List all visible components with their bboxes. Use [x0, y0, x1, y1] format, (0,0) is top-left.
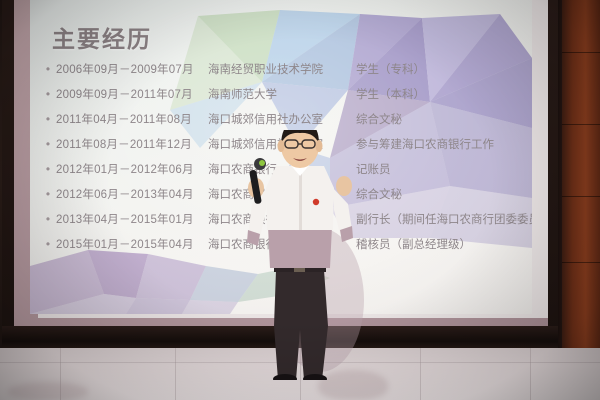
shirt-lower: [268, 226, 332, 268]
floor-tile-seam: [175, 348, 176, 400]
period-text: 2013年04月－2015年01月: [56, 211, 208, 227]
role-text: 参与筹建海口农商银行工作: [356, 136, 532, 152]
role-text: 副行长（期间任海口农商行团委委员）: [356, 211, 532, 227]
bullet-icon: •: [40, 62, 56, 76]
wood-seam: [562, 262, 600, 263]
wood-seam: [562, 52, 600, 53]
role-text: 学生（本科）: [356, 86, 532, 102]
period-text: 2011年08月－2011年12月: [56, 136, 208, 152]
list-item: • 2009年09月－2011年07月 海南师范大学 学生（本科）: [40, 81, 532, 106]
period-text: 2012年06月－2013年04月: [56, 186, 208, 202]
period-text: 2012年01月－2012年06月: [56, 161, 208, 177]
organization-text: 海南经贸职业技术学院: [208, 61, 356, 77]
microphone-led-icon: [259, 160, 265, 166]
floor-reflection: [8, 382, 88, 400]
lapel-pin-icon: [313, 199, 319, 205]
hand-right: [336, 176, 352, 196]
shirt-placket: [299, 168, 302, 230]
period-text: 2011年04月－2011年08月: [56, 111, 208, 127]
ear-left: [278, 140, 285, 152]
role-text: 综合文秘: [356, 186, 532, 202]
role-text: 稽核员（副总经理级）: [356, 236, 532, 252]
bullet-icon: •: [40, 137, 56, 151]
list-item: • 2011年04月－2011年08月 海口城郊信用社办公室 综合文秘: [40, 106, 532, 131]
period-text: 2006年09月－2009年07月: [56, 61, 208, 77]
bullet-icon: •: [40, 237, 56, 251]
bullet-icon: •: [40, 87, 56, 101]
period-text: 2009年09月－2011年07月: [56, 86, 208, 102]
wood-seam: [562, 196, 600, 197]
role-text: 综合文秘: [356, 111, 532, 127]
bullet-icon: •: [40, 212, 56, 226]
slide-title: 主要经历: [52, 20, 152, 54]
organization-text: 海口城郊信用社办公室: [208, 111, 356, 127]
floor-tile-seam: [420, 348, 421, 400]
screenshot-root: 主要经历 • 2006年09月－2009年07月 海南经贸职业技术学院 学生（专…: [0, 0, 600, 400]
period-text: 2015年01月－2015年04月: [56, 236, 208, 252]
bullet-icon: •: [40, 187, 56, 201]
organization-text: 海南师范大学: [208, 86, 356, 102]
floor-tile-seam: [530, 348, 531, 400]
ear-right: [316, 140, 323, 152]
wood-seam: [562, 124, 600, 125]
role-text: 学生（专科）: [356, 61, 532, 77]
role-text: 记账员: [356, 161, 532, 177]
list-item: • 2006年09月－2009年07月 海南经贸职业技术学院 学生（专科）: [40, 56, 532, 81]
bullet-icon: •: [40, 112, 56, 126]
bullet-icon: •: [40, 162, 56, 176]
presenter-figure: [236, 130, 364, 380]
